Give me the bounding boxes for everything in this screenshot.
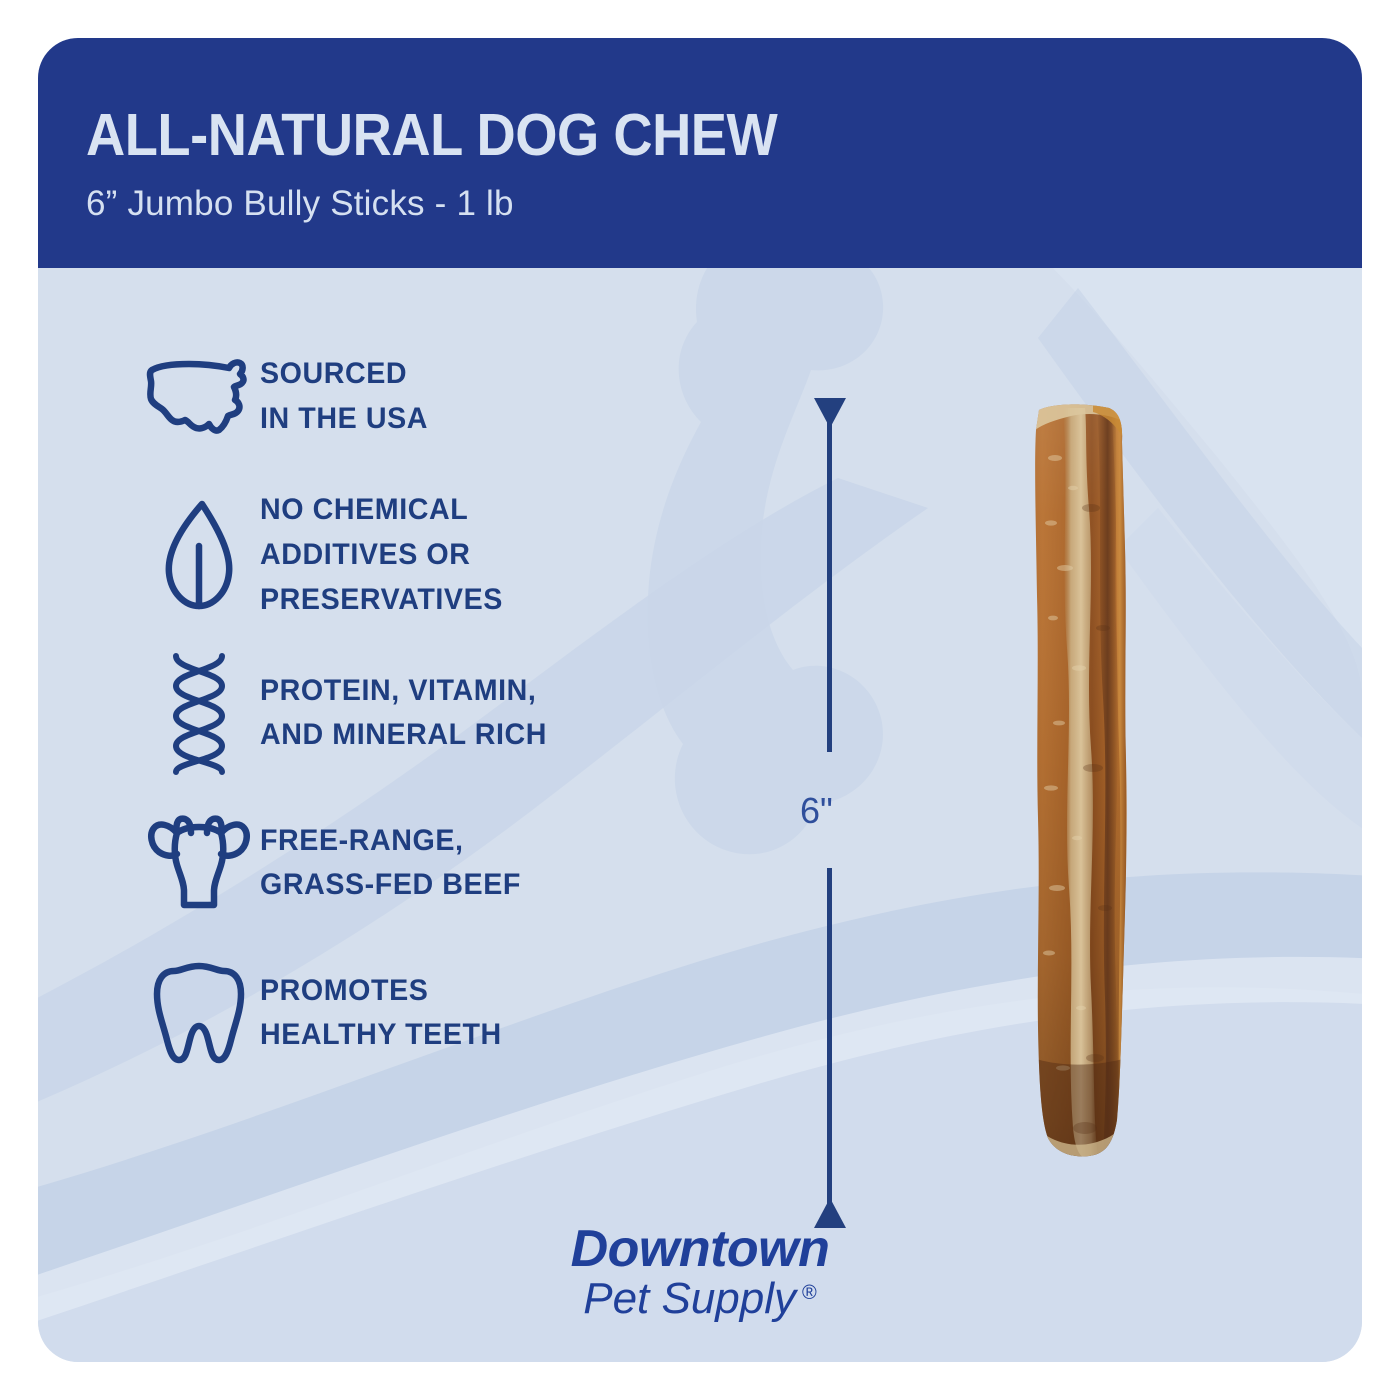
feature-item-no-chemicals: NO CHEMICAL ADDITIVES OR PRESERVATIVES (138, 488, 738, 622)
bully-stick-product-image (993, 368, 1183, 1188)
feature-item-healthy-teeth: PROMOTES HEALTHY TEETH (138, 954, 738, 1072)
page-subtitle: 6” Jumbo Bully Sticks - 1 lb (86, 186, 514, 221)
product-infographic-card: ALL-NATURAL DOG CHEW 6” Jumbo Bully Stic… (38, 38, 1362, 1362)
tooth-icon (138, 954, 260, 1072)
page-title: ALL-NATURAL DOG CHEW (86, 106, 777, 165)
dna-helix-icon (138, 654, 260, 772)
brand-name-primary: Downtown (38, 1223, 1362, 1276)
brand-name-secondary-wrap: Pet Supply® (38, 1276, 1362, 1322)
feature-item-grass-fed-beef: FREE-RANGE, GRASS-FED BEEF (138, 804, 738, 922)
leaf-icon (138, 496, 260, 614)
registered-trademark-icon: ® (802, 1282, 817, 1304)
dimension-label: 6" (800, 790, 833, 832)
cow-head-icon (138, 804, 260, 922)
brand-name-secondary: Pet Supply (583, 1274, 796, 1323)
feature-label: SOURCED IN THE USA (260, 352, 428, 442)
feature-item-sourced-usa: SOURCED IN THE USA (138, 338, 738, 456)
feature-label: PROTEIN, VITAMIN, AND MINERAL RICH (260, 669, 547, 759)
feature-list: SOURCED IN THE USA NO CHEMICAL ADDITIVES… (138, 338, 738, 1104)
vertical-dimension-arrow-icon (780, 398, 900, 1228)
usa-map-icon (138, 338, 260, 456)
feature-item-nutrient-rich: PROTEIN, VITAMIN, AND MINERAL RICH (138, 654, 738, 772)
feature-label: NO CHEMICAL ADDITIVES OR PRESERVATIVES (260, 488, 503, 622)
brand-logo: Downtown Pet Supply® (38, 1223, 1362, 1322)
header-banner: ALL-NATURAL DOG CHEW 6” Jumbo Bully Stic… (38, 38, 1362, 268)
feature-label: FREE-RANGE, GRASS-FED BEEF (260, 819, 521, 909)
feature-label: PROMOTES HEALTHY TEETH (260, 969, 502, 1059)
